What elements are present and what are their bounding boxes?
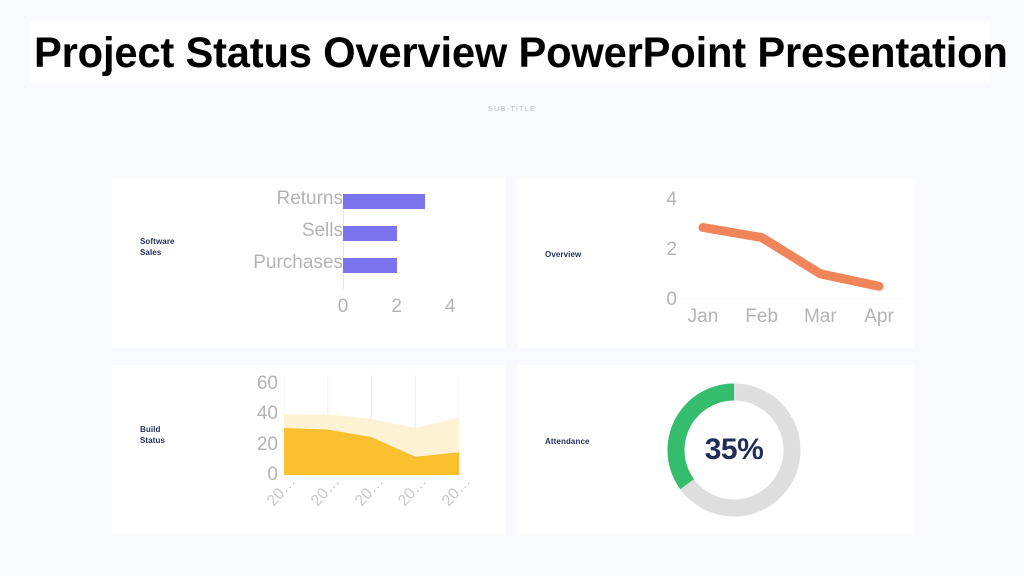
bar-row[interactable]: Returns xyxy=(232,186,497,216)
page-title: Project Status Overview PowerPoint Prese… xyxy=(34,26,961,80)
axis-tick-label: Mar xyxy=(804,306,837,328)
axis-tick-label: 40 xyxy=(257,403,278,425)
card-software-sales[interactable]: Software Sales Returns Sells Purchases 0… xyxy=(112,178,505,348)
card-build-status[interactable]: Build Status 60 40 20 0 20… 20… 20… 20… … xyxy=(112,365,505,535)
bar-rect[interactable] xyxy=(343,226,397,241)
donut-chart-attendance: 35% xyxy=(659,375,809,525)
axis-tick-label: 4 xyxy=(666,189,677,211)
donut-center-value: 35% xyxy=(659,375,809,525)
axis-tick-label: 60 xyxy=(257,373,278,395)
axis-tick-label: 2 xyxy=(391,296,402,318)
card-label-overview: Overview xyxy=(545,249,635,260)
card-label-line1: Overview xyxy=(545,249,635,260)
bar-chart-x-axis: 0 2 4 xyxy=(317,296,497,322)
bar-category-label: Purchases xyxy=(213,252,343,274)
axis-tick-label: 0 xyxy=(338,296,349,318)
line-chart-y-axis: 0 2 4 xyxy=(647,190,677,300)
card-label-build-status: Build Status xyxy=(140,424,230,446)
card-label-line1: Build xyxy=(140,424,230,435)
bar-category-label: Returns xyxy=(213,188,343,210)
card-label-line2: Status xyxy=(140,435,230,446)
area-chart-y-axis: 60 40 20 0 xyxy=(242,375,278,475)
axis-tick-label: 20 xyxy=(257,434,278,456)
bar-rect[interactable] xyxy=(343,258,397,273)
axis-tick-label: Feb xyxy=(745,306,778,328)
line-chart-overview: 0 2 4 Jan Feb Mar Apr xyxy=(647,190,902,340)
line-chart-plot-area xyxy=(681,190,901,300)
axis-tick-label: Apr xyxy=(864,306,894,328)
bar-row[interactable]: Purchases xyxy=(232,250,497,280)
page-subtitle: SUB-TITLE xyxy=(0,104,1024,113)
axis-tick-label: 20… xyxy=(395,473,431,510)
bar-category-label: Sells xyxy=(213,220,343,242)
area-chart-build-status: 60 40 20 0 20… 20… 20… 20… 20… xyxy=(242,375,502,530)
bar-rect[interactable] xyxy=(343,194,425,209)
bar-chart-software-sales: Returns Sells Purchases 0 2 4 xyxy=(232,186,497,341)
axis-tick-label: Jan xyxy=(688,306,719,328)
axis-tick-label: 4 xyxy=(445,296,456,318)
card-label-line1: Attendance xyxy=(545,436,635,447)
line-series-path xyxy=(703,228,879,287)
slide-canvas: Project Status Overview PowerPoint Prese… xyxy=(0,0,1024,576)
axis-tick-label: 20… xyxy=(308,473,344,510)
card-label-attendance: Attendance xyxy=(545,436,635,447)
card-overview[interactable]: Overview 0 2 4 Jan Feb Mar Apr xyxy=(517,178,915,348)
line-chart-x-axis: Jan Feb Mar Apr xyxy=(681,306,901,332)
area-chart-x-axis: 20… 20… 20… 20… 20… xyxy=(284,476,474,521)
bar-row[interactable]: Sells xyxy=(232,218,497,248)
area-chart-plot-area xyxy=(284,375,459,475)
axis-tick-label: 20… xyxy=(351,473,387,510)
axis-tick-label: 2 xyxy=(666,239,677,261)
axis-tick-label: 20… xyxy=(439,473,475,510)
card-attendance[interactable]: Attendance 35% xyxy=(517,365,915,535)
axis-tick-label: 0 xyxy=(666,289,677,311)
